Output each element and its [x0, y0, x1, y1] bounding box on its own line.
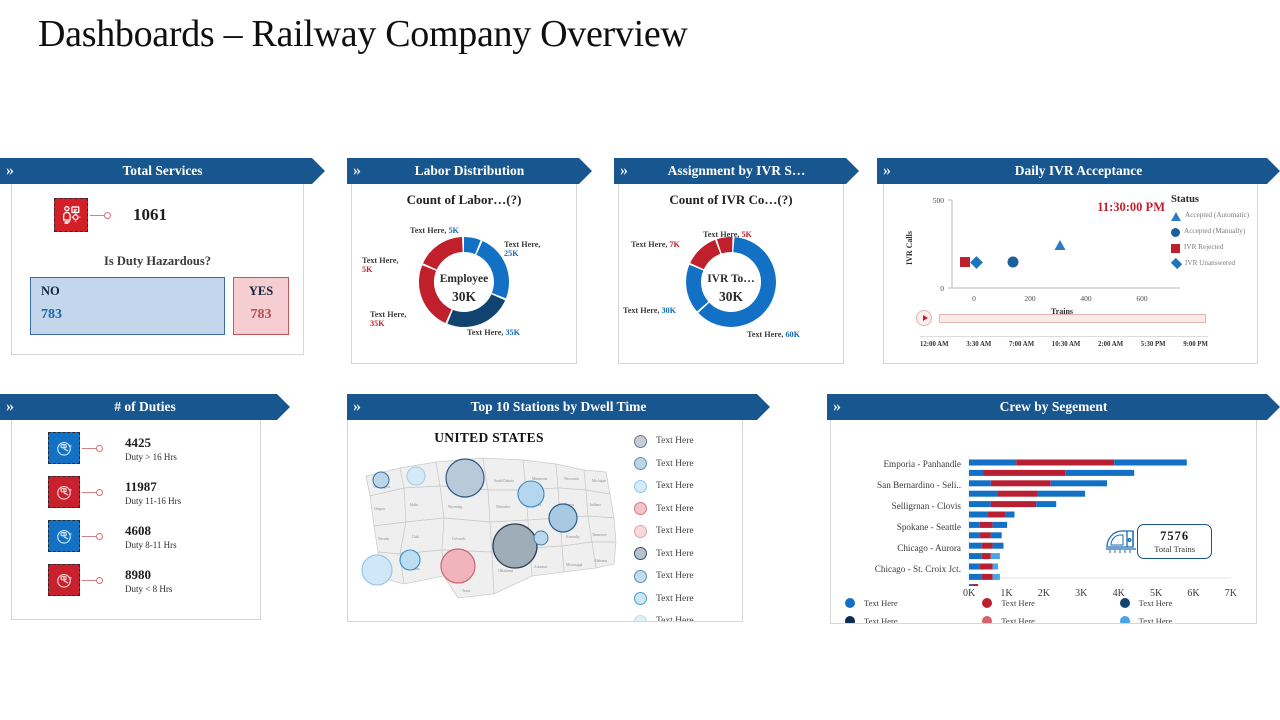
- duty-connector-1: [82, 489, 103, 496]
- panel-body-crew-segment: Emporia - Panhandle San Bernardino - Sel…: [830, 420, 1257, 624]
- chevron-double-right-icon: »: [353, 162, 358, 180]
- labor-donut-chart[interactable]: Employee 30K Text Here, 5K Text Here,25K…: [352, 208, 576, 358]
- svg-text:Minnesota: Minnesota: [532, 477, 548, 481]
- duty-text-3: 8980 Duty < 8 Hrs: [125, 567, 172, 594]
- panel-title-stations-map: Top 10 Stations by Dwell Time: [445, 399, 673, 415]
- svg-text:Mississippi: Mississippi: [566, 563, 582, 567]
- labor-chart-title: Count of Labor…(?): [352, 192, 576, 208]
- timeline-track[interactable]: [939, 314, 1206, 323]
- crew-legend-label-5: Text Here: [1139, 616, 1173, 624]
- svg-text:Wyoming: Wyoming: [448, 505, 462, 509]
- timeline-tick-4: 2:00 AM: [1098, 341, 1123, 348]
- duty-clock-icon: [48, 520, 80, 552]
- panel-body-assignment-ivr: Count of IVR Co…(?) IVR To… 30K Text He: [618, 184, 844, 364]
- duty-desc-0: Duty > 16 Hrs: [125, 452, 177, 462]
- svg-text:Utah: Utah: [412, 535, 419, 539]
- panel-header-daily-ivr: » Daily IVR Acceptance: [877, 158, 1280, 184]
- duty-row-1[interactable]: 11987 Duty 11-16 Hrs: [12, 470, 260, 514]
- map-legend-label-6: Text Here: [656, 571, 694, 581]
- total-services-kpi: 1061: [12, 184, 303, 232]
- timeline-tick-5: 5:30 PM: [1141, 341, 1166, 348]
- duty-connector-3: [82, 577, 103, 584]
- svg-text:San Bernardino - Seli..: San Bernardino - Seli..: [877, 480, 961, 490]
- svg-text:IVR Calls: IVR Calls: [905, 231, 914, 265]
- ivr-legend-item-unanswered[interactable]: IVR Unanswered: [1171, 259, 1251, 268]
- svg-text:Indiana: Indiana: [590, 503, 601, 507]
- hazardous-no-label: NO: [41, 284, 214, 299]
- labor-slice-label-5: Text Here,5K: [362, 256, 398, 275]
- map-legend-item-1[interactable]: Text Here: [634, 453, 742, 476]
- panel-daily-ivr-acceptance: » Daily IVR Acceptance 11:30:00 PM 500 0…: [877, 158, 1280, 364]
- panel-title-duties: # of Duties: [88, 399, 202, 415]
- crew-legend-item-4[interactable]: Text Here: [1120, 598, 1257, 608]
- map-legend-label-5: Text Here: [656, 549, 694, 559]
- legend-dot-icon: [845, 598, 855, 608]
- circle-marker-icon: [1171, 228, 1180, 237]
- diamond-marker-icon: [1171, 258, 1182, 269]
- labor-slice-label-3: Text Here, 35K: [467, 328, 520, 337]
- ivr-legend-item-accepted-manually[interactable]: Accepted (Manually): [1171, 227, 1251, 237]
- timeline-tick-6: 9:00 PM: [1183, 341, 1208, 348]
- total-trains-value: 7576: [1154, 529, 1195, 544]
- duty-value-3: 8980: [125, 567, 172, 583]
- total-services-value: 1061: [133, 205, 167, 225]
- svg-text:Tennessee: Tennessee: [592, 533, 607, 537]
- legend-dot-icon: [982, 616, 992, 624]
- panel-header-crew-segment: » Crew by Segement: [827, 394, 1280, 420]
- duty-text-2: 4608 Duty 8-11 Hrs: [125, 523, 177, 550]
- svg-text:Chicago - Aurora: Chicago - Aurora: [897, 543, 961, 553]
- panel-header-labor-distribution: » Labor Distribution: [347, 158, 592, 184]
- labor-slice-label-2: Text Here,25K: [504, 240, 540, 259]
- ivr-slice-label-2: Text Here, 7K: [631, 240, 680, 249]
- svg-text:Arkansas: Arkansas: [534, 565, 548, 569]
- panel-body-labor-distribution: Count of Labor…(?) Employee 30: [351, 184, 577, 364]
- chevron-double-right-icon: »: [6, 398, 11, 416]
- map-legend-label-8: Text Here: [656, 616, 694, 622]
- svg-text:0: 0: [972, 294, 976, 303]
- legend-dot-icon: [634, 570, 647, 583]
- labor-donut-center: Employee 30K: [440, 272, 489, 306]
- svg-text:Colorado: Colorado: [452, 537, 466, 541]
- crew-legend-label-3: Text Here: [1001, 616, 1035, 624]
- kpi-connector: [90, 212, 111, 219]
- svg-text:400: 400: [1080, 294, 1092, 303]
- duty-row-0[interactable]: 4425 Duty > 16 Hrs: [12, 426, 260, 470]
- total-trains-box: 7576 Total Trains: [1137, 524, 1212, 559]
- hazardous-no-value: 783: [41, 307, 214, 323]
- page-title: Dashboards – Railway Company Overview: [38, 12, 688, 56]
- legend-dot-icon: [634, 525, 647, 538]
- svg-text:600: 600: [1136, 294, 1148, 303]
- map-legend-item-2[interactable]: Text Here: [634, 475, 742, 498]
- duty-value-0: 4425: [125, 435, 177, 451]
- duty-connector-0: [82, 445, 103, 452]
- ivr-legend-label-2: IVR Rejected: [1184, 243, 1223, 252]
- timeline-tick-3: 10:30 AM: [1052, 341, 1081, 348]
- crew-legend-item-5[interactable]: Text Here: [1120, 616, 1257, 624]
- panel-header-stations-map: » Top 10 Stations by Dwell Time: [347, 394, 770, 420]
- crew-legend-item-3[interactable]: Text Here: [982, 616, 1119, 624]
- labor-slice-label-1: Text Here, 5K: [410, 226, 459, 235]
- ivr-legend-item-rejected[interactable]: IVR Rejected: [1171, 243, 1251, 253]
- svg-text:Idaho: Idaho: [410, 503, 418, 507]
- ivr-status-legend: Status Accepted (Automatic) Accepted (Ma…: [1171, 194, 1251, 274]
- svg-text:Nebraska: Nebraska: [496, 505, 510, 509]
- square-marker-icon: [1171, 244, 1180, 253]
- legend-dot-icon: [1120, 598, 1130, 608]
- map-legend-item-4[interactable]: Text Here: [634, 520, 742, 543]
- stations-map-area[interactable]: UNITED STATES: [348, 420, 742, 622]
- ivr-center-label: IVR To…: [707, 272, 755, 288]
- duty-value-2: 4608: [125, 523, 177, 539]
- svg-text:Oregon: Oregon: [374, 507, 385, 511]
- legend-dot-icon: [634, 457, 647, 470]
- ivr-donut-chart[interactable]: IVR To… 30K Text Here, 5K Text Here, 7K …: [619, 208, 843, 358]
- panel-body-duties: 4425 Duty > 16 Hrs 11987 Duty 11-16 Hrs: [11, 420, 261, 620]
- map-legend-item-0[interactable]: Text Here: [634, 430, 742, 453]
- map-legend-item-3[interactable]: Text Here: [634, 498, 742, 521]
- svg-text:Oklahoma: Oklahoma: [498, 569, 513, 573]
- svg-text:200: 200: [1024, 294, 1036, 303]
- ivr-legend-label-0: Accepted (Automatic): [1185, 211, 1249, 220]
- timeline-ticks: 12:00 AM 3:30 AM 7:00 AM 10:30 AM 2:00 A…: [920, 336, 1208, 348]
- svg-text:Alabama: Alabama: [594, 559, 607, 563]
- crew-legend-label-4: Text Here: [1139, 598, 1173, 608]
- map-legend-label-2: Text Here: [656, 481, 694, 491]
- map-legend: Text Here Text Here Text Here Text Here …: [630, 420, 742, 622]
- svg-text:Michigan: Michigan: [592, 479, 606, 483]
- chevron-double-right-icon: »: [620, 162, 625, 180]
- crew-legend-item-0[interactable]: Text Here: [845, 598, 982, 608]
- daily-ivr-scatter-chart[interactable]: 11:30:00 PM 500 0 IVR Calls 0 200 400 60…: [884, 184, 1257, 362]
- svg-text:Selligrnan - Clovis: Selligrnan - Clovis: [892, 501, 962, 511]
- crew-legend: Text Here Text Here Text Here Text Here …: [845, 598, 1257, 624]
- legend-dot-icon: [634, 615, 647, 622]
- labor-slice-label-4: Text Here,35K: [370, 310, 406, 329]
- hazardous-yes-label: YES: [242, 284, 280, 299]
- legend-dot-icon: [634, 547, 647, 560]
- timeline-slider[interactable]: [916, 310, 1206, 326]
- panel-title-labor-distribution: Labor Distribution: [389, 163, 551, 179]
- ivr-slice-label-4: Text Here, 60K: [747, 330, 800, 339]
- crew-legend-label-0: Text Here: [864, 598, 898, 608]
- ivr-legend-title: Status: [1171, 194, 1251, 205]
- panel-crew-segment: » Crew by Segement Emporia - Panhandle S…: [827, 394, 1280, 624]
- chevron-double-right-icon: »: [353, 398, 358, 416]
- panel-labor-distribution: » Labor Distribution Count of Labor…(?): [347, 158, 592, 364]
- panel-title-daily-ivr: Daily IVR Acceptance: [989, 163, 1168, 179]
- crew-bar-chart[interactable]: Emporia - Panhandle San Bernardino - Sel…: [831, 420, 1256, 624]
- panel-duties: » # of Duties 4425 Duty > 16 Hrs: [0, 394, 290, 620]
- labor-center-label: Employee: [440, 272, 489, 288]
- total-trains-badge: 7576 Total Trains: [1103, 524, 1212, 559]
- map-legend-label-1: Text Here: [656, 459, 694, 469]
- chevron-double-right-icon: »: [6, 162, 11, 180]
- ivr-slice-label-3: Text Here, 30K: [623, 306, 676, 315]
- hazardous-question-label: Is Duty Hazardous?: [12, 254, 303, 269]
- crew-legend-item-1[interactable]: Text Here: [845, 616, 982, 624]
- total-trains-label: Total Trains: [1154, 544, 1195, 554]
- chevron-double-right-icon: »: [833, 398, 838, 416]
- legend-dot-icon: [1120, 616, 1130, 624]
- map-legend-label-4: Text Here: [656, 526, 694, 536]
- map-legend-item-5[interactable]: Text Here: [634, 543, 742, 566]
- panel-header-total-services: » Total Services: [0, 158, 325, 184]
- svg-text:Wisconsin: Wisconsin: [564, 477, 579, 481]
- legend-dot-icon: [982, 598, 992, 608]
- panel-header-assignment-ivr: » Assignment by IVR S…: [614, 158, 859, 184]
- ivr-legend-label-3: IVR Unanswered: [1185, 259, 1235, 268]
- svg-text:500: 500: [933, 196, 945, 205]
- crew-legend-label-1: Text Here: [864, 616, 898, 624]
- svg-text:0: 0: [940, 284, 944, 293]
- crew-legend-item-2[interactable]: Text Here: [982, 598, 1119, 608]
- duty-desc-2: Duty 8-11 Hrs: [125, 540, 177, 550]
- svg-text:Emporia - Panhandle: Emporia - Panhandle: [883, 459, 961, 469]
- panel-title-crew-segment: Crew by Segement: [974, 399, 1134, 415]
- ivr-slice-label-1: Text Here, 5K: [703, 230, 752, 239]
- svg-text:Texas: Texas: [462, 589, 471, 593]
- duty-value-1: 11987: [125, 479, 181, 495]
- hazardous-no-card[interactable]: NO 783: [30, 277, 225, 335]
- services-people-icon: [54, 198, 88, 232]
- crew-legend-label-2: Text Here: [1001, 598, 1035, 608]
- map-legend-item-7[interactable]: Text Here: [634, 588, 742, 611]
- legend-dot-icon: [845, 616, 855, 624]
- panel-stations-map: » Top 10 Stations by Dwell Time UNITED S…: [347, 394, 770, 622]
- duty-desc-1: Duty 11-16 Hrs: [125, 496, 181, 506]
- svg-text:South Dakota: South Dakota: [494, 479, 514, 483]
- timeline-tick-1: 3:30 AM: [966, 341, 991, 348]
- timeline-tick-2: 7:00 AM: [1009, 341, 1034, 348]
- panel-header-duties: » # of Duties: [0, 394, 290, 420]
- play-icon[interactable]: [916, 310, 932, 326]
- svg-text:Kentucky: Kentucky: [566, 535, 580, 539]
- legend-dot-icon: [634, 592, 647, 605]
- map-legend-item-6[interactable]: Text Here: [634, 565, 742, 588]
- ivr-center-value: 30K: [707, 288, 755, 306]
- legend-dot-icon: [634, 480, 647, 493]
- timeline-tick-0: 12:00 AM: [920, 341, 949, 348]
- labor-center-value: 30K: [440, 288, 489, 306]
- svg-text:Chicago - La Crosse: Chicago - La Crosse: [886, 585, 961, 586]
- map-legend-label-7: Text Here: [656, 594, 694, 604]
- duty-clock-icon: [48, 564, 80, 596]
- duty-connector-2: [82, 533, 103, 540]
- map-legend-item-8[interactable]: Text Here: [634, 610, 742, 622]
- legend-dot-icon: [634, 435, 647, 448]
- panel-title-assignment-ivr: Assignment by IVR S…: [642, 163, 832, 179]
- hazardous-boxes: NO 783 YES 783: [12, 269, 303, 335]
- legend-dot-icon: [634, 502, 647, 515]
- ivr-legend-item-accepted-automatic[interactable]: Accepted (Automatic): [1171, 211, 1251, 221]
- ivr-legend-label-1: Accepted (Manually): [1184, 227, 1245, 236]
- panel-assignment-ivr: » Assignment by IVR S… Count of IVR Co…(…: [614, 158, 859, 364]
- chevron-double-right-icon: »: [883, 162, 888, 180]
- triangle-marker-icon: [1171, 212, 1181, 221]
- duty-desc-3: Duty < 8 Hrs: [125, 584, 172, 594]
- panel-title-total-services: Total Services: [96, 163, 228, 179]
- svg-text:Nevada: Nevada: [378, 537, 389, 541]
- duty-row-3[interactable]: 8980 Duty < 8 Hrs: [12, 558, 260, 602]
- map-legend-label-3: Text Here: [656, 504, 694, 514]
- panel-body-stations-map: UNITED STATES: [347, 420, 743, 622]
- duty-text-0: 4425 Duty > 16 Hrs: [125, 435, 177, 462]
- hazardous-yes-value: 783: [242, 307, 280, 323]
- panel-body-daily-ivr: 11:30:00 PM 500 0 IVR Calls 0 200 400 60…: [883, 184, 1258, 364]
- train-icon: [1103, 525, 1139, 559]
- panel-total-services: » Total Services 1061 Is Duty Hazardous?…: [0, 158, 325, 355]
- hazardous-yes-card[interactable]: YES 783: [233, 277, 289, 335]
- svg-text:Spokane - Seattle: Spokane - Seattle: [897, 522, 961, 532]
- us-map[interactable]: UNITED STATES: [348, 420, 630, 622]
- ivr-donut-center: IVR To… 30K: [707, 272, 755, 306]
- ivr-chart-title: Count of IVR Co…(?): [619, 192, 843, 208]
- map-legend-label-0: Text Here: [656, 436, 694, 446]
- duty-clock-icon: [48, 476, 80, 508]
- crew-bars-svg: Emporia - Panhandle San Bernardino - Sel…: [831, 426, 1243, 586]
- svg-text:Chicago - St. Croix Jct.: Chicago - St. Croix Jct.: [875, 564, 961, 574]
- duty-clock-icon: [48, 432, 80, 464]
- duty-row-2[interactable]: 4608 Duty 8-11 Hrs: [12, 514, 260, 558]
- panel-body-total-services: 1061 Is Duty Hazardous? NO 783 YES 783: [11, 184, 304, 355]
- duty-text-1: 11987 Duty 11-16 Hrs: [125, 479, 181, 506]
